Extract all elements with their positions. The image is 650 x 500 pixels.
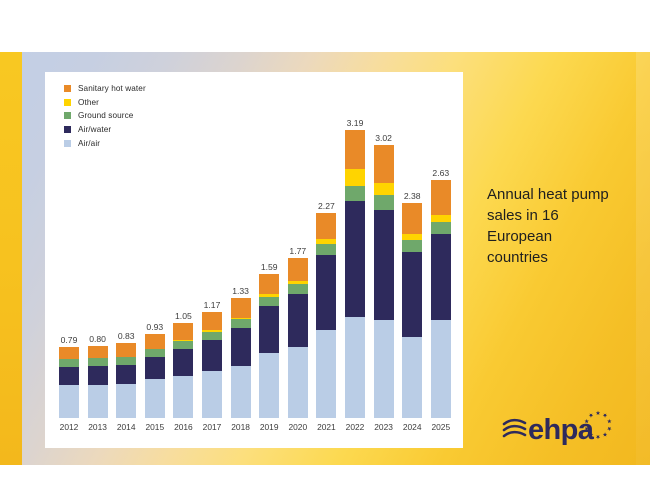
bar-segment-air-water (88, 366, 108, 384)
bar-segment-sanitary-hot-water (402, 203, 422, 234)
chart-panel: Sanitary hot waterOtherGround sourceAir/… (45, 72, 463, 448)
bar-segment-sanitary-hot-water (88, 346, 108, 359)
bar-segment-sanitary-hot-water (374, 145, 394, 183)
x-tick-label: 2013 (88, 422, 107, 432)
bar-segment-sanitary-hot-water (259, 274, 279, 294)
waves-icon (504, 420, 525, 436)
bar-segment-air-air (259, 353, 279, 418)
bar-segment-ground-source (345, 186, 365, 201)
bar-segment-air-air (173, 376, 193, 419)
x-tick-label: 2016 (174, 422, 193, 432)
x-tick-2020: 2020 (288, 418, 308, 436)
bar-stack (173, 323, 193, 418)
svg-text:ehpa: ehpa (528, 414, 595, 446)
bar-segment-sanitary-hot-water (345, 130, 365, 170)
bar-segment-ground-source (231, 319, 251, 328)
left-accent-band (0, 52, 22, 465)
bar-stack (202, 312, 222, 418)
bar-segment-ground-source (402, 240, 422, 252)
chart-plot-area: 0.790.800.830.931.051.171.331.591.772.27… (57, 90, 455, 418)
bar-segment-ground-source (145, 349, 165, 357)
bar-segment-air-water (402, 252, 422, 337)
bar-segment-ground-source (316, 244, 336, 255)
bar-segment-air-water (316, 255, 336, 330)
x-tick-2023: 2023 (374, 418, 394, 436)
bar-segment-ground-source (173, 341, 193, 349)
bar-value-label: 0.93 (146, 322, 163, 332)
bar-segment-air-water (288, 294, 308, 347)
x-tick-label: 2025 (431, 422, 450, 432)
bar-segment-air-water (345, 201, 365, 317)
x-tick-label: 2023 (374, 422, 393, 432)
bar-segment-other (374, 183, 394, 195)
bar-segment-air-air (288, 347, 308, 418)
bar-segment-ground-source (374, 195, 394, 210)
bar-stack (231, 298, 251, 418)
x-tick-label: 2019 (260, 422, 279, 432)
bar-segment-sanitary-hot-water (431, 180, 451, 214)
bar-segment-sanitary-hot-water (288, 258, 308, 282)
x-tick-label: 2020 (288, 422, 307, 432)
headline-text: Annual heat pump sales in 16 European co… (487, 184, 617, 268)
bar-stack (316, 213, 336, 418)
bar-segment-ground-source (288, 284, 308, 294)
bar-segment-ground-source (431, 222, 451, 234)
x-tick-label: 2022 (346, 422, 365, 432)
x-tick-label: 2014 (117, 422, 136, 432)
bar-stack (402, 203, 422, 418)
x-tick-2019: 2019 (259, 418, 279, 436)
bar-segment-air-air (431, 320, 451, 418)
bar-segment-ground-source (202, 332, 222, 340)
bar-stack (59, 347, 79, 418)
x-tick-label: 2021 (317, 422, 336, 432)
bar-value-label: 0.80 (89, 334, 106, 344)
bar-segment-air-air (374, 320, 394, 418)
bar-segment-sanitary-hot-water (116, 343, 136, 357)
bar-segment-ground-source (88, 358, 108, 366)
bar-value-label: 0.79 (61, 335, 78, 345)
bar-segment-air-water (259, 306, 279, 353)
x-tick-2025: 2025 (431, 418, 451, 436)
bar-value-label: 1.33 (232, 286, 249, 296)
bar-stack (374, 145, 394, 418)
x-tick-2015: 2015 (145, 418, 165, 436)
bar-segment-air-water (202, 340, 222, 371)
x-tick-2012: 2012 (59, 418, 79, 436)
bar-value-label: 3.19 (347, 118, 364, 128)
bar-segment-air-air (116, 384, 136, 418)
bar-value-label: 1.77 (289, 246, 306, 256)
bar-stack (431, 180, 451, 418)
x-tick-label: 2018 (231, 422, 250, 432)
bar-segment-air-water (173, 349, 193, 375)
bar-stack (259, 274, 279, 418)
bar-segment-air-water (431, 234, 451, 321)
x-tick-2018: 2018 (231, 418, 251, 436)
x-tick-label: 2024 (403, 422, 422, 432)
bar-segment-air-water (59, 367, 79, 385)
x-tick-2021: 2021 (316, 418, 336, 436)
bar-stack (88, 346, 108, 418)
x-tick-2016: 2016 (173, 418, 193, 436)
bar-segment-other (345, 169, 365, 185)
x-tick-2022: 2022 (345, 418, 365, 436)
bar-value-label: 1.17 (204, 300, 221, 310)
bar-segment-sanitary-hot-water (202, 312, 222, 330)
bar-value-label: 1.59 (261, 262, 278, 272)
bar-segment-sanitary-hot-water (145, 334, 165, 349)
bar-segment-air-air (59, 385, 79, 418)
x-tick-label: 2012 (60, 422, 79, 432)
bar-segment-ground-source (116, 357, 136, 365)
bar-value-label: 1.05 (175, 311, 192, 321)
x-tick-label: 2015 (145, 422, 164, 432)
x-tick-2024: 2024 (402, 418, 422, 436)
bar-segment-air-air (231, 366, 251, 418)
bar-segment-other (431, 215, 451, 222)
bar-segment-sanitary-hot-water (231, 298, 251, 318)
bar-segment-sanitary-hot-water (173, 323, 193, 340)
bar-value-label: 0.83 (118, 331, 135, 341)
bar-stack (145, 334, 165, 418)
bar-segment-ground-source (259, 297, 279, 306)
x-tick-2017: 2017 (202, 418, 222, 436)
bar-value-label: 2.38 (404, 191, 421, 201)
bar-segment-air-air (88, 385, 108, 418)
bar-value-label: 2.63 (432, 168, 449, 178)
x-tick-2014: 2014 (116, 418, 136, 436)
bar-segment-ground-source (59, 359, 79, 367)
bar-segment-air-water (145, 357, 165, 379)
bar-segment-sanitary-hot-water (316, 213, 336, 239)
ehpa-logo: ehpa (500, 407, 620, 449)
bar-value-label: 3.02 (375, 133, 392, 143)
bar-segment-air-water (374, 210, 394, 320)
x-tick-2013: 2013 (88, 418, 108, 436)
bar-segment-air-water (231, 328, 251, 366)
bar-segment-air-air (202, 371, 222, 418)
bar-segment-air-air (345, 317, 365, 418)
bar-stack (288, 258, 308, 418)
bar-segment-air-air (145, 379, 165, 418)
x-axis: 2012201320142015201620172018201920202021… (57, 418, 455, 436)
bar-value-label: 2.27 (318, 201, 335, 211)
bar-segment-sanitary-hot-water (59, 347, 79, 360)
bar-segment-air-air (316, 330, 336, 418)
x-tick-label: 2017 (203, 422, 222, 432)
bar-stack (345, 130, 365, 418)
bar-stack (116, 343, 136, 418)
slide: Sanitary hot waterOtherGround sourceAir/… (0, 52, 650, 465)
bar-segment-air-air (402, 337, 422, 418)
bar-segment-air-water (116, 365, 136, 384)
